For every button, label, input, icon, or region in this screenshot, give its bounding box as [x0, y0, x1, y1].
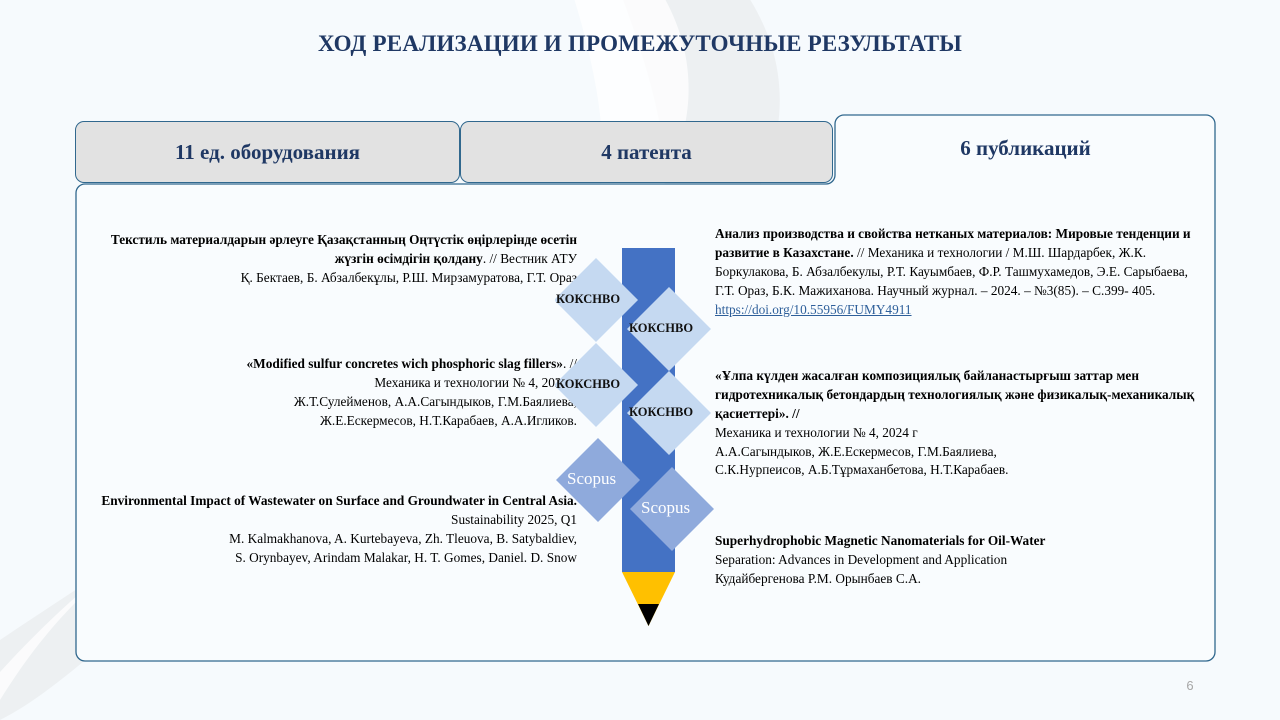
publication-item: Superhydrophobic Magnetic Nanomaterials …	[715, 532, 1207, 589]
publication-authors: Кудайбергенова Р.М. Орынбаев С.А.	[715, 571, 921, 586]
publication-authors: А.А.Сагындыков, Ж.Е.Ескермесов, Г.М.Баял…	[715, 444, 997, 459]
publication-item: Анализ производства и свойства нетканых …	[715, 225, 1207, 319]
page-title: ХОД РЕАЛИЗАЦИИ И ПРОМЕЖУТОЧНЫЕ РЕЗУЛЬТАТ…	[0, 31, 1280, 57]
tab-patents[interactable]: 4 патента	[460, 121, 833, 183]
publication-authors-cont: S. Orynbayev, Arindam Malakar, H. T. Gom…	[235, 550, 577, 565]
page-number: 6	[1170, 678, 1210, 693]
publication-item: «Ұлпа күлден жасалған композициялық байл…	[715, 367, 1207, 480]
publication-title: Environmental Impact of Wastewater on Su…	[101, 493, 577, 508]
pencil-diagram: КОКСНВО КОКСНВО КОКСНВО КОКСНВО Scopus S…	[555, 238, 725, 638]
publication-authors: M. Kalmakhanova, A. Kurtebayeva, Zh. Tle…	[229, 531, 577, 546]
tab-equipment[interactable]: 11 ед. оборудования	[75, 121, 460, 183]
publication-item: «Modified sulfur concretes wich phosphor…	[97, 355, 577, 431]
pencil-lead-icon	[638, 604, 659, 626]
publication-authors: Қ. Бектаев, Б. Абзалбекұлы, Р.Ш. Мирзаму…	[241, 270, 577, 285]
pencil-graphic	[555, 238, 725, 638]
publication-authors: Ж.Т.Сулейменов, А.А.Сагындыков, Г.М.Баял…	[294, 394, 577, 409]
publication-authors-cont: Ж.Е.Ескермесов, Н.Т.Карабаев, А.А.Иглико…	[320, 413, 577, 428]
tab-strip: 11 ед. оборудования 4 патента	[75, 121, 1215, 183]
publication-item: Environmental Impact of Wastewater on Su…	[97, 492, 577, 568]
publication-journal: Механика и технологии № 4, 2024 г	[715, 425, 918, 440]
tab-equipment-label: 11 ед. оборудования	[175, 140, 360, 165]
tab-patents-label: 4 патента	[601, 140, 692, 165]
publication-journal: Механика и технологии № 4, 2024 г	[374, 375, 577, 390]
publication-title: «Modified sulfur concretes wich phosphor…	[247, 356, 563, 371]
publication-doi-link[interactable]: https://doi.org/10.55956/FUMY4911	[715, 302, 912, 317]
publication-title: Superhydrophobic Magnetic Nanomaterials …	[715, 533, 1045, 548]
publication-authors-cont: С.К.Нурпеисов, А.Б.Тұрмаханбетова, Н.Т.К…	[715, 462, 1009, 477]
publication-source: . //	[785, 406, 799, 421]
publication-item: Текстиль материалдарын әрлеуге Қазақстан…	[97, 231, 577, 288]
publication-journal: Separation: Advances in Development and …	[715, 552, 1007, 567]
